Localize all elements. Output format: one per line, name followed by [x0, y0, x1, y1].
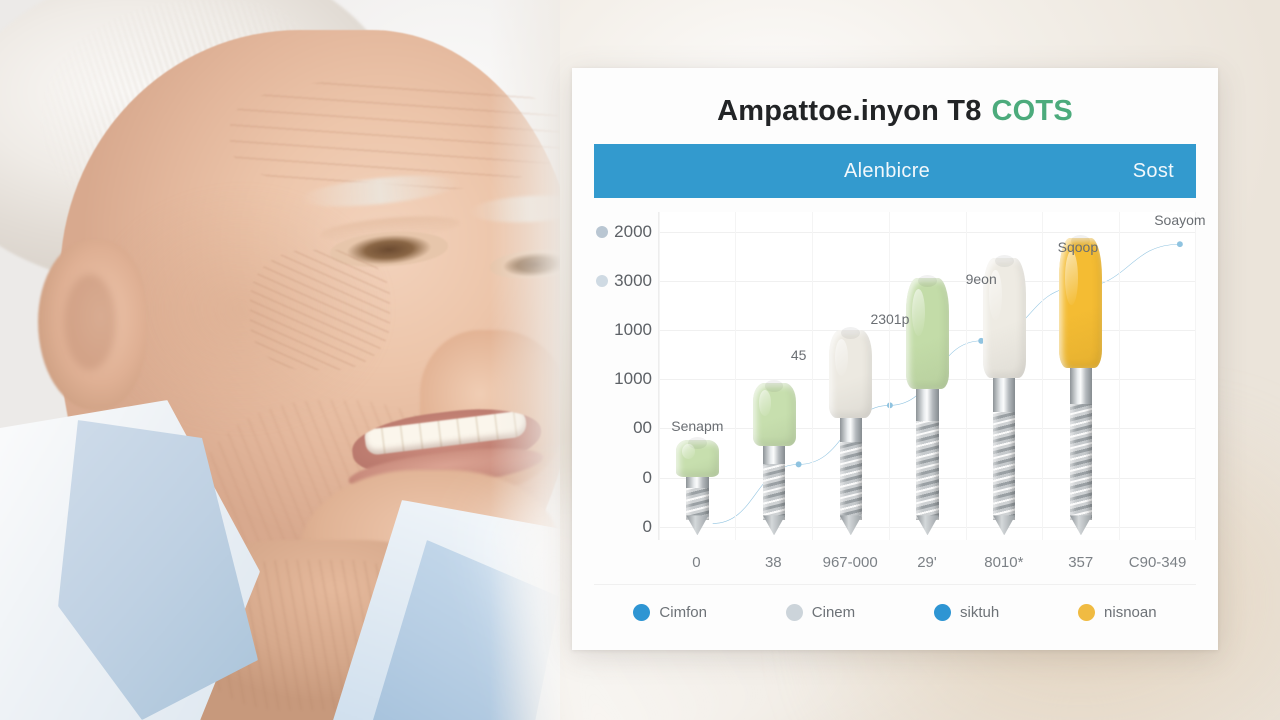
implant-tip	[686, 515, 708, 535]
line-point-label: 45	[791, 347, 807, 363]
bar-value-label: Senapm	[671, 418, 723, 434]
chart-title-accent: COTS	[992, 95, 1073, 128]
legend-label: siktuh	[960, 604, 999, 621]
implant-bar[interactable]	[676, 440, 719, 520]
x-axis-tick-label: 357	[1068, 554, 1093, 571]
vertical-gridline	[889, 212, 890, 540]
implant-abutment	[916, 389, 938, 420]
implant-bar[interactable]	[753, 383, 796, 520]
x-axis-tick-label: 0	[692, 554, 700, 571]
crows-feet-wrinkles	[250, 250, 390, 370]
line-point-label: Soayom	[1154, 212, 1205, 228]
header-bar-left-label: Alenbicre	[844, 160, 930, 183]
y-tick-dot-icon	[596, 275, 608, 287]
x-axis-tick-label: 8010*	[984, 554, 1023, 571]
implant-tip	[763, 515, 785, 535]
y-axis-tick: 3000	[596, 271, 652, 291]
legend-dot-icon	[1078, 604, 1095, 621]
implant-abutment	[763, 446, 785, 464]
x-axis-tick-label: 967-000	[823, 554, 878, 571]
vertical-gridline	[966, 212, 967, 540]
x-axis-tick-label: C90-349	[1129, 554, 1187, 571]
legend-label: Cinem	[812, 604, 855, 621]
y-axis-tick-label: 0	[643, 517, 652, 537]
implant-bar[interactable]	[1059, 238, 1102, 521]
implant-abutment	[686, 477, 708, 487]
chart-title-main: Ampattoe.inyon T8	[717, 95, 981, 128]
implant-tip	[1070, 515, 1092, 535]
ear	[38, 240, 146, 410]
y-axis-tick-label: 00	[633, 418, 652, 438]
implant-screw-icon	[993, 378, 1015, 520]
legend-item[interactable]: siktuh	[934, 604, 999, 621]
vertical-gridline	[659, 212, 660, 540]
implant-screw-icon	[686, 477, 708, 520]
line-point-label: Sqoop	[1058, 239, 1098, 255]
implant-tip	[840, 515, 862, 535]
y-axis-tick-label: 3000	[614, 271, 652, 291]
vertical-gridline	[735, 212, 736, 540]
implant-screw-icon	[763, 446, 785, 520]
vertical-gridline	[1195, 212, 1196, 540]
implant-bar[interactable]	[906, 278, 949, 521]
implant-bar[interactable]	[983, 258, 1026, 521]
gridline	[659, 232, 1196, 233]
x-axis-tick-label: 29'	[917, 554, 937, 571]
legend-dot-icon	[934, 604, 951, 621]
tooth-crown-icon	[829, 330, 872, 417]
y-axis-tick: 00	[633, 418, 652, 438]
implant-abutment	[993, 378, 1015, 412]
tooth-crown-icon	[676, 440, 719, 477]
chart-card: Ampattoe.inyon T8 COTS Alenbicre Sost 20…	[572, 68, 1218, 650]
y-axis-tick-label: 2000	[614, 222, 652, 242]
vertical-gridline	[812, 212, 813, 540]
implant-tip	[993, 515, 1015, 535]
line-data-point[interactable]	[796, 461, 802, 467]
implant-tip	[916, 515, 938, 535]
x-axis-tick-label: 38	[765, 554, 782, 571]
legend-dot-icon	[786, 604, 803, 621]
tooth-crown-icon	[1059, 238, 1102, 368]
line-point-label: 2301p	[870, 311, 909, 327]
y-axis-tick: 2000	[596, 222, 652, 242]
vertical-gridline	[1042, 212, 1043, 540]
header-bar-right-label: Sost	[1133, 160, 1174, 183]
y-axis-tick-label: 1000	[614, 320, 652, 340]
chart-legend: CimfonCinemsiktuhnisnoan	[594, 584, 1196, 640]
tooth-crown-icon	[753, 383, 796, 446]
y-axis-tick: 1000	[614, 369, 652, 389]
implant-screw-icon	[1070, 368, 1092, 521]
line-data-point[interactable]	[1177, 241, 1183, 247]
legend-label: Cimfon	[659, 604, 707, 621]
legend-label: nisnoan	[1104, 604, 1157, 621]
y-tick-dot-icon	[596, 226, 608, 238]
line-data-point[interactable]	[887, 402, 893, 408]
implant-bar[interactable]	[829, 330, 872, 520]
y-axis-tick-label: 0	[643, 468, 652, 488]
chart-title: Ampattoe.inyon T8 COTS	[572, 68, 1218, 144]
y-axis-tick: 1000	[614, 320, 652, 340]
y-axis-tick-label: 1000	[614, 369, 652, 389]
y-axis-tick: 0	[643, 517, 652, 537]
legend-item[interactable]: nisnoan	[1078, 604, 1157, 621]
implant-abutment	[1070, 368, 1092, 405]
y-axis: 20003000100010000000	[580, 212, 658, 540]
legend-dot-icon	[633, 604, 650, 621]
vertical-gridline	[1119, 212, 1120, 540]
tooth-crown-icon	[906, 278, 949, 390]
x-axis: 038967-00029'8010*357C90-349	[658, 540, 1196, 584]
line-point-label: 9eon	[966, 271, 997, 287]
plot-area: Senapm452301p9eonSqoopSoayom	[658, 212, 1196, 540]
legend-item[interactable]: Cimfon	[633, 604, 707, 621]
plot-area-wrapper: 20003000100010000000 Senapm452301p9eonSq…	[572, 198, 1218, 540]
implant-abutment	[840, 418, 862, 443]
implant-screw-icon	[840, 418, 862, 521]
y-axis-tick: 0	[643, 468, 652, 488]
patient-photo	[0, 0, 580, 720]
chart-header-bar: Alenbicre Sost	[594, 144, 1196, 198]
legend-item[interactable]: Cinem	[786, 604, 855, 621]
implant-screw-icon	[916, 389, 938, 520]
